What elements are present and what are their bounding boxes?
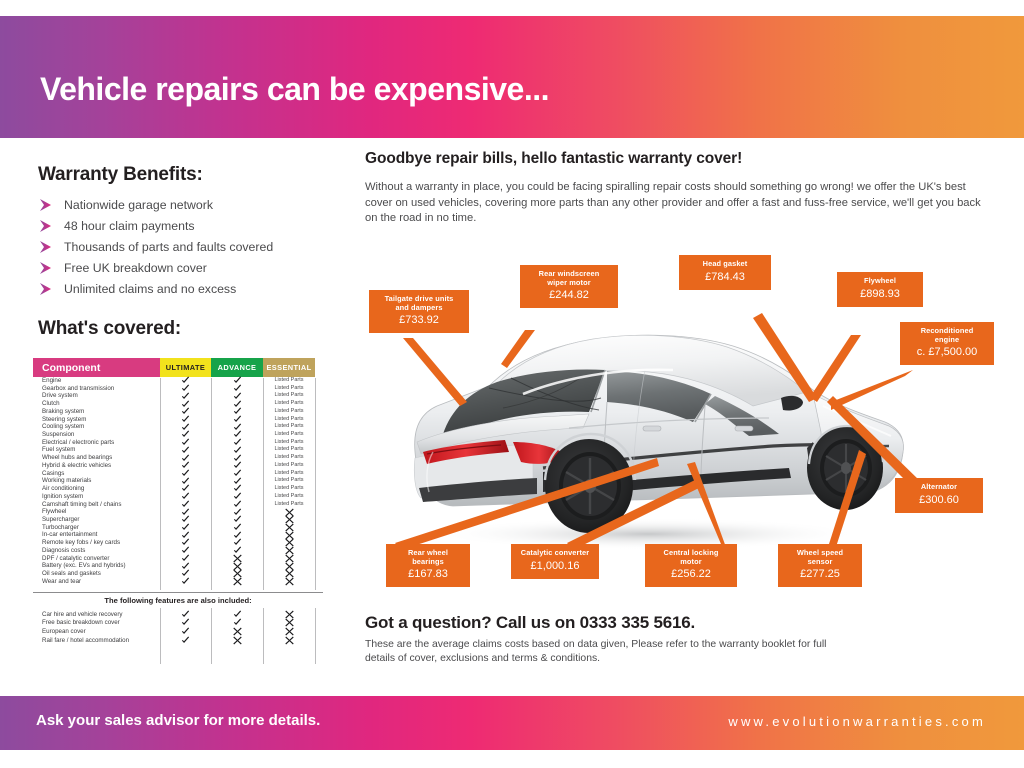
chevron-right-icon bbox=[38, 261, 58, 275]
cell-component: Electrical / electronic parts bbox=[33, 439, 160, 447]
check-icon bbox=[181, 636, 190, 645]
vehicle-diagram: Tailgate drive units and dampers £733.92… bbox=[365, 250, 1020, 600]
cell-essential: Listed Parts bbox=[263, 423, 315, 431]
callout-label: Rear windscreen wiper motor bbox=[528, 270, 610, 287]
table-column-divider bbox=[263, 378, 264, 590]
cell-component: DPF / catalytic converter bbox=[33, 555, 160, 563]
benefit-label: Thousands of parts and faults covered bbox=[64, 240, 273, 254]
page-title: Vehicle repairs can be expensive... bbox=[40, 71, 549, 108]
cell-component: In-car entertainment bbox=[33, 531, 160, 539]
cell-advance bbox=[211, 636, 263, 645]
cell-component: Suspension bbox=[33, 431, 160, 439]
features-column-divider bbox=[315, 608, 316, 664]
cell-component: Drive system bbox=[33, 392, 160, 400]
benefit-label: Free UK breakdown cover bbox=[64, 261, 207, 275]
chevron-right-icon bbox=[38, 282, 58, 296]
cell-text: Listed Parts bbox=[274, 416, 303, 424]
cell-essential: Listed Parts bbox=[263, 446, 315, 454]
callout-box[interactable]: Alternator £300.60 bbox=[895, 478, 983, 513]
cell-text: Listed Parts bbox=[274, 454, 303, 462]
top-white-margin bbox=[0, 0, 1024, 16]
callout-box[interactable]: Reconditioned engine c. £7,500.00 bbox=[900, 322, 994, 365]
cell-text: Listed Parts bbox=[274, 470, 303, 478]
features-column-divider bbox=[211, 608, 212, 664]
cell-essential: Listed Parts bbox=[263, 385, 315, 393]
cell-component: Supercharger bbox=[33, 516, 160, 524]
table-column-divider bbox=[315, 378, 316, 590]
features-table: Car hire and vehicle recoveryFree basic … bbox=[33, 610, 323, 644]
cell-component: Oil seals and gaskets bbox=[33, 570, 160, 578]
table-header-row: Component ULTIMATE ADVANCE ESSENTIAL bbox=[33, 358, 323, 377]
cell-component: Air conditioning bbox=[33, 485, 160, 493]
cell-essential bbox=[263, 577, 315, 586]
features-divider bbox=[33, 592, 323, 593]
cell-text: Listed Parts bbox=[274, 408, 303, 416]
cell-text: Listed Parts bbox=[274, 485, 303, 493]
callout-price: £1,000.16 bbox=[519, 559, 591, 573]
poster-page: Vehicle repairs can be expensive... Warr… bbox=[0, 0, 1024, 768]
callout-label: Alternator bbox=[903, 483, 975, 492]
cell-text: Listed Parts bbox=[274, 392, 303, 400]
cell-essential: Listed Parts bbox=[263, 439, 315, 447]
cell-text: Listed Parts bbox=[274, 439, 303, 447]
cell-ultimate bbox=[160, 636, 211, 645]
benefit-label: Nationwide garage network bbox=[64, 198, 213, 212]
features-title: The following features are also included… bbox=[33, 596, 323, 605]
benefit-label: 48 hour claim payments bbox=[64, 219, 195, 233]
column-header-advance: ADVANCE bbox=[211, 358, 263, 377]
footer-website[interactable]: www.evolutionwarranties.com bbox=[728, 714, 986, 729]
cell-essential: Listed Parts bbox=[263, 493, 315, 501]
callout-box[interactable]: Head gasket £784.43 bbox=[679, 255, 771, 290]
callout-price: £784.43 bbox=[687, 270, 763, 284]
whats-covered-heading: What's covered: bbox=[38, 318, 181, 340]
callout-price: £733.92 bbox=[377, 313, 461, 327]
cell-essential: Listed Parts bbox=[263, 462, 315, 470]
cell-text: Listed Parts bbox=[274, 493, 303, 501]
cell-component: Hybrid & electric vehicles bbox=[33, 462, 160, 470]
features-column-divider bbox=[160, 608, 161, 664]
list-item: 48 hour claim payments bbox=[38, 215, 328, 236]
cell-essential: Listed Parts bbox=[263, 454, 315, 462]
cell-component: Engine bbox=[33, 377, 160, 385]
cell-ultimate bbox=[160, 577, 211, 586]
cell-component: Gearbox and transmission bbox=[33, 385, 160, 393]
benefit-label: Unlimited claims and no excess bbox=[64, 282, 236, 296]
cell-text: Listed Parts bbox=[274, 423, 303, 431]
cell-feature: Rail fare / hotel accommodation bbox=[33, 637, 160, 644]
cell-essential: Listed Parts bbox=[263, 477, 315, 485]
chevron-right-icon bbox=[38, 198, 58, 212]
callout-box[interactable]: Central locking motor £256.22 bbox=[645, 544, 737, 587]
cell-component: Cooling system bbox=[33, 423, 160, 431]
cell-feature: Car hire and vehicle recovery bbox=[33, 611, 160, 618]
callout-label: Wheel speed sensor bbox=[786, 549, 854, 566]
cell-component: Diagnosis costs bbox=[33, 547, 160, 555]
list-item: Unlimited claims and no excess bbox=[38, 278, 328, 299]
cell-component: Battery (exc. EVs and hybrids) bbox=[33, 562, 160, 570]
cell-text: Listed Parts bbox=[274, 446, 303, 454]
cell-essential: Listed Parts bbox=[263, 377, 315, 385]
cross-icon bbox=[233, 577, 242, 586]
callout-box[interactable]: Wheel speed sensor £277.25 bbox=[778, 544, 862, 587]
table-column-divider bbox=[160, 378, 161, 590]
footer-message: Ask your sales advisor for more details. bbox=[36, 712, 320, 729]
table-body: EngineListed PartsGearbox and transmissi… bbox=[33, 377, 323, 585]
cell-component: Working materials bbox=[33, 477, 160, 485]
callout-price: £898.93 bbox=[845, 287, 915, 301]
bottom-white-margin bbox=[0, 750, 1024, 768]
cta-heading: Got a question? Call us on 0333 335 5616… bbox=[365, 613, 695, 633]
cta-body: These are the average claims costs based… bbox=[365, 638, 835, 667]
cell-component: Clutch bbox=[33, 400, 160, 408]
cell-component: Flywheel bbox=[33, 508, 160, 516]
feature-row: Rail fare / hotel accommodation bbox=[33, 636, 323, 645]
cross-icon bbox=[233, 636, 242, 645]
column-header-essential: ESSENTIAL bbox=[263, 358, 315, 377]
cell-component: Casings bbox=[33, 470, 160, 478]
cell-component: Fuel system bbox=[33, 446, 160, 454]
cross-icon bbox=[285, 577, 294, 586]
callout-label: Tailgate drive units and dampers bbox=[377, 295, 461, 312]
callout-box[interactable]: Flywheel £898.93 bbox=[837, 272, 923, 307]
feature-row: Car hire and vehicle recovery bbox=[33, 610, 323, 619]
cell-component: Ignition system bbox=[33, 493, 160, 501]
cell-component: Steering system bbox=[33, 416, 160, 424]
callout-box[interactable]: Tailgate drive units and dampers £733.92 bbox=[369, 290, 469, 333]
cell-essential: Listed Parts bbox=[263, 485, 315, 493]
warranty-benefits-list: Nationwide garage network 48 hour claim … bbox=[38, 194, 328, 299]
cell-feature: European cover bbox=[33, 628, 160, 635]
cell-text: Listed Parts bbox=[274, 400, 303, 408]
table-column-divider bbox=[211, 378, 212, 590]
cell-text: Listed Parts bbox=[274, 377, 303, 385]
cell-essential: Listed Parts bbox=[263, 392, 315, 400]
callout-label: Central locking motor bbox=[653, 549, 729, 566]
cell-text: Listed Parts bbox=[274, 477, 303, 485]
callout-label: Rear wheel bearings bbox=[394, 549, 462, 566]
callout-price: c. £7,500.00 bbox=[908, 345, 986, 359]
cell-component: Wear and tear bbox=[33, 578, 160, 586]
intro-heading: Goodbye repair bills, hello fantastic wa… bbox=[365, 150, 1015, 168]
callout-price: £300.60 bbox=[903, 493, 975, 507]
header-banner: Vehicle repairs can be expensive... bbox=[0, 16, 1024, 138]
callout-label: Flywheel bbox=[845, 277, 915, 286]
cross-icon bbox=[285, 636, 294, 645]
cell-essential: Listed Parts bbox=[263, 431, 315, 439]
cell-advance bbox=[211, 577, 263, 586]
cell-essential: Listed Parts bbox=[263, 408, 315, 416]
callout-box[interactable]: Rear windscreen wiper motor £244.82 bbox=[520, 265, 618, 308]
callout-box[interactable]: Rear wheel bearings £167.83 bbox=[386, 544, 470, 587]
cell-text: Listed Parts bbox=[274, 431, 303, 439]
check-icon bbox=[181, 577, 190, 586]
cell-component: Turbocharger bbox=[33, 524, 160, 532]
column-header-component: Component bbox=[33, 358, 160, 377]
coverage-table: Component ULTIMATE ADVANCE ESSENTIAL Eng… bbox=[33, 358, 323, 585]
cell-text: Listed Parts bbox=[274, 385, 303, 393]
list-item: Thousands of parts and faults covered bbox=[38, 236, 328, 257]
list-item: Nationwide garage network bbox=[38, 194, 328, 215]
warranty-benefits-heading: Warranty Benefits: bbox=[38, 164, 203, 186]
right-column: Goodbye repair bills, hello fantastic wa… bbox=[365, 150, 1015, 227]
callout-price: £244.82 bbox=[528, 288, 610, 302]
cell-component: Remote key fobs / key cards bbox=[33, 539, 160, 547]
cell-component: Camshaft timing belt / chains bbox=[33, 501, 160, 509]
callout-box[interactable]: Catalytic converter £1,000.16 bbox=[511, 544, 599, 579]
column-header-ultimate: ULTIMATE bbox=[160, 358, 211, 377]
callout-label: Catalytic converter bbox=[519, 549, 591, 558]
callout-price: £167.83 bbox=[394, 567, 462, 581]
chevron-right-icon bbox=[38, 240, 58, 254]
feature-row: European cover bbox=[33, 627, 323, 636]
cell-feature: Free basic breakdown cover bbox=[33, 619, 160, 626]
cell-essential: Listed Parts bbox=[263, 470, 315, 478]
list-item: Free UK breakdown cover bbox=[38, 257, 328, 278]
cell-essential: Listed Parts bbox=[263, 400, 315, 408]
footer-banner: Ask your sales advisor for more details.… bbox=[0, 696, 1024, 750]
cell-component: Wheel hubs and bearings bbox=[33, 454, 160, 462]
cell-component: Braking system bbox=[33, 408, 160, 416]
callout-price: £277.25 bbox=[786, 567, 854, 581]
callout-label: Reconditioned engine bbox=[908, 327, 986, 344]
chevron-right-icon bbox=[38, 219, 58, 233]
cell-essential: Listed Parts bbox=[263, 416, 315, 424]
table-row: Wear and tear bbox=[33, 578, 323, 586]
intro-body: Without a warranty in place, you could b… bbox=[365, 180, 993, 227]
features-column-divider bbox=[263, 608, 264, 664]
cell-text: Listed Parts bbox=[274, 462, 303, 470]
callout-label: Head gasket bbox=[687, 260, 763, 269]
cell-essential bbox=[263, 636, 315, 645]
callout-price: £256.22 bbox=[653, 567, 729, 581]
feature-row: Free basic breakdown cover bbox=[33, 619, 323, 628]
